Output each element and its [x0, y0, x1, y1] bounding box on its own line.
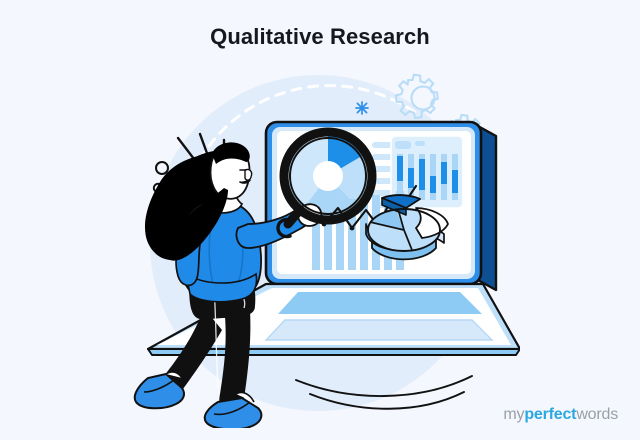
sparkle-icon [356, 102, 368, 114]
brand-segment-my: my [503, 406, 524, 423]
page-title: Qualitative Research [0, 24, 640, 50]
illustration-container [120, 58, 520, 428]
brand-logo[interactable]: myperfectwords [503, 406, 618, 424]
page-root: Qualitative Research [0, 0, 640, 440]
brand-segment-words: words [576, 406, 618, 423]
brand-segment-perfect: perfect [524, 406, 576, 423]
